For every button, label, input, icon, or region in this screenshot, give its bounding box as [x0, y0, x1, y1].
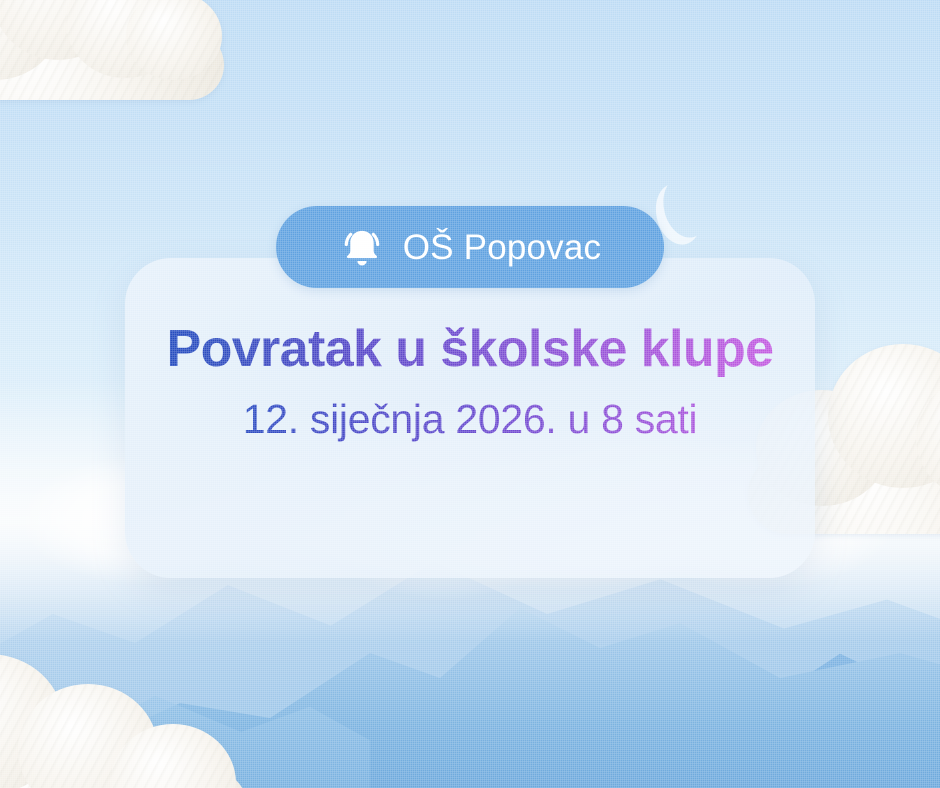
poster-canvas: Povratak u školske klupe 12. siječnja 20… — [0, 0, 940, 788]
crescent-moon-icon — [657, 172, 715, 243]
mountain-ridge-right — [470, 578, 940, 788]
cloud-lobe — [0, 30, 224, 100]
cloud-lobe — [0, 0, 124, 60]
cloud-lobe — [18, 684, 158, 788]
date-time-text: 12. siječnja 2026. u 8 sati — [125, 397, 815, 442]
cloud-lobe — [916, 376, 940, 500]
mountain-range-left — [0, 648, 370, 788]
cloud-lobe — [0, 700, 14, 788]
announcement-text-block: Povratak u školske klupe 12. siječnja 20… — [125, 322, 815, 442]
cloud-lobe — [66, 0, 184, 78]
school-name-badge[interactable]: OŠ Popovac — [276, 206, 664, 288]
school-name-label: OŠ Popovac — [403, 230, 602, 265]
cloud-lobe — [126, 0, 222, 80]
bell-icon — [339, 224, 385, 270]
cloud-lobe — [110, 724, 236, 788]
headline-text: Povratak u školske klupe — [125, 322, 815, 377]
cloud-lobe — [0, 0, 60, 80]
cloud-top-left-decoration — [0, 0, 230, 126]
cloud-lobe — [828, 344, 940, 488]
cloud-lobe — [0, 766, 250, 788]
cloud-lobe — [0, 0, 20, 78]
cloud-bottom-left-decoration — [0, 640, 244, 788]
cloud-lobe — [0, 654, 64, 788]
